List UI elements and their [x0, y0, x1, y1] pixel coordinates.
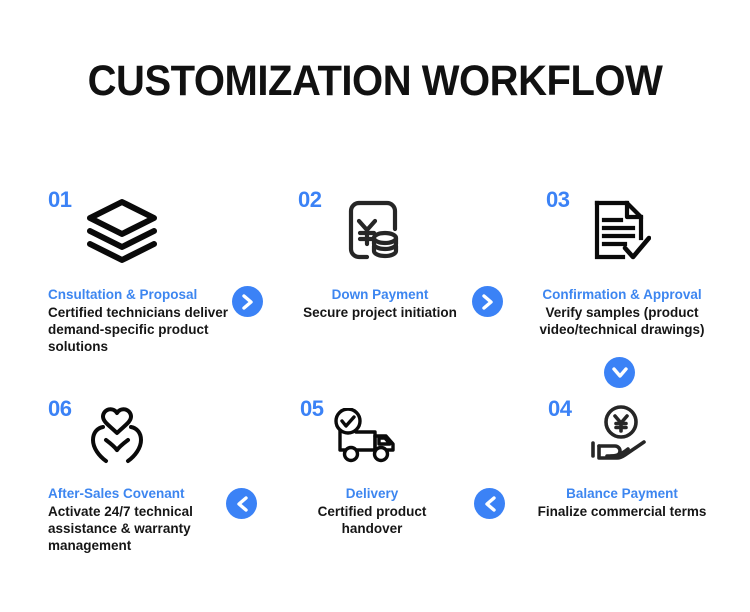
- chevron-down-icon: [612, 366, 628, 380]
- step-text-01: Cnsultation & Proposal Certified technic…: [48, 286, 248, 355]
- step-number-02: 02: [298, 189, 321, 211]
- step-text-05: Delivery Certified product handover: [286, 485, 458, 537]
- document-check-icon: [593, 200, 651, 262]
- connector-03-to-04[interactable]: [604, 357, 635, 388]
- step-description-02: Secure project initiation: [300, 304, 460, 321]
- step-number-01: 01: [48, 189, 71, 211]
- chevron-left-icon: [483, 496, 497, 512]
- chevron-right-icon: [241, 294, 255, 310]
- hand-coin-icon: [588, 404, 650, 466]
- step-description-06: Activate 24/7 technical assistance & war…: [48, 503, 248, 554]
- step-text-06: After-Sales Covenant Activate 24/7 techn…: [48, 485, 248, 554]
- step-description-01: Certified technicians deliver demand-spe…: [48, 304, 248, 355]
- step-title-05: Delivery: [286, 485, 458, 502]
- step-title-03: Confirmation & Approval: [536, 286, 708, 303]
- step-title-04: Balance Payment: [534, 485, 710, 502]
- delivery-truck-check-icon: [331, 408, 397, 466]
- step-number-06: 06: [48, 398, 71, 420]
- layers-stack-icon: [85, 197, 159, 265]
- step-text-04: Balance Payment Finalize commercial term…: [534, 485, 710, 520]
- hands-heart-icon: [86, 406, 148, 466]
- step-description-03: Verify samples (product video/technical …: [536, 304, 708, 338]
- step-title-06: After-Sales Covenant: [48, 485, 248, 502]
- chevron-right-icon: [481, 294, 495, 310]
- page-title: CUSTOMIZATION WORKFLOW: [26, 57, 724, 106]
- step-description-04: Finalize commercial terms: [534, 503, 710, 520]
- connector-01-to-02[interactable]: [232, 286, 263, 317]
- step-text-02: Down Payment Secure project initiation: [300, 286, 460, 321]
- step-number-04: 04: [548, 398, 571, 420]
- step-text-03: Confirmation & Approval Verify samples (…: [536, 286, 708, 338]
- step-title-02: Down Payment: [300, 286, 460, 303]
- step-number-05: 05: [300, 398, 323, 420]
- connector-04-to-05[interactable]: [474, 488, 505, 519]
- connector-02-to-03[interactable]: [472, 286, 503, 317]
- step-title-01: Cnsultation & Proposal: [48, 286, 248, 303]
- money-payment-icon: [337, 199, 401, 263]
- step-number-03: 03: [546, 189, 569, 211]
- step-description-05: Certified product handover: [286, 503, 458, 537]
